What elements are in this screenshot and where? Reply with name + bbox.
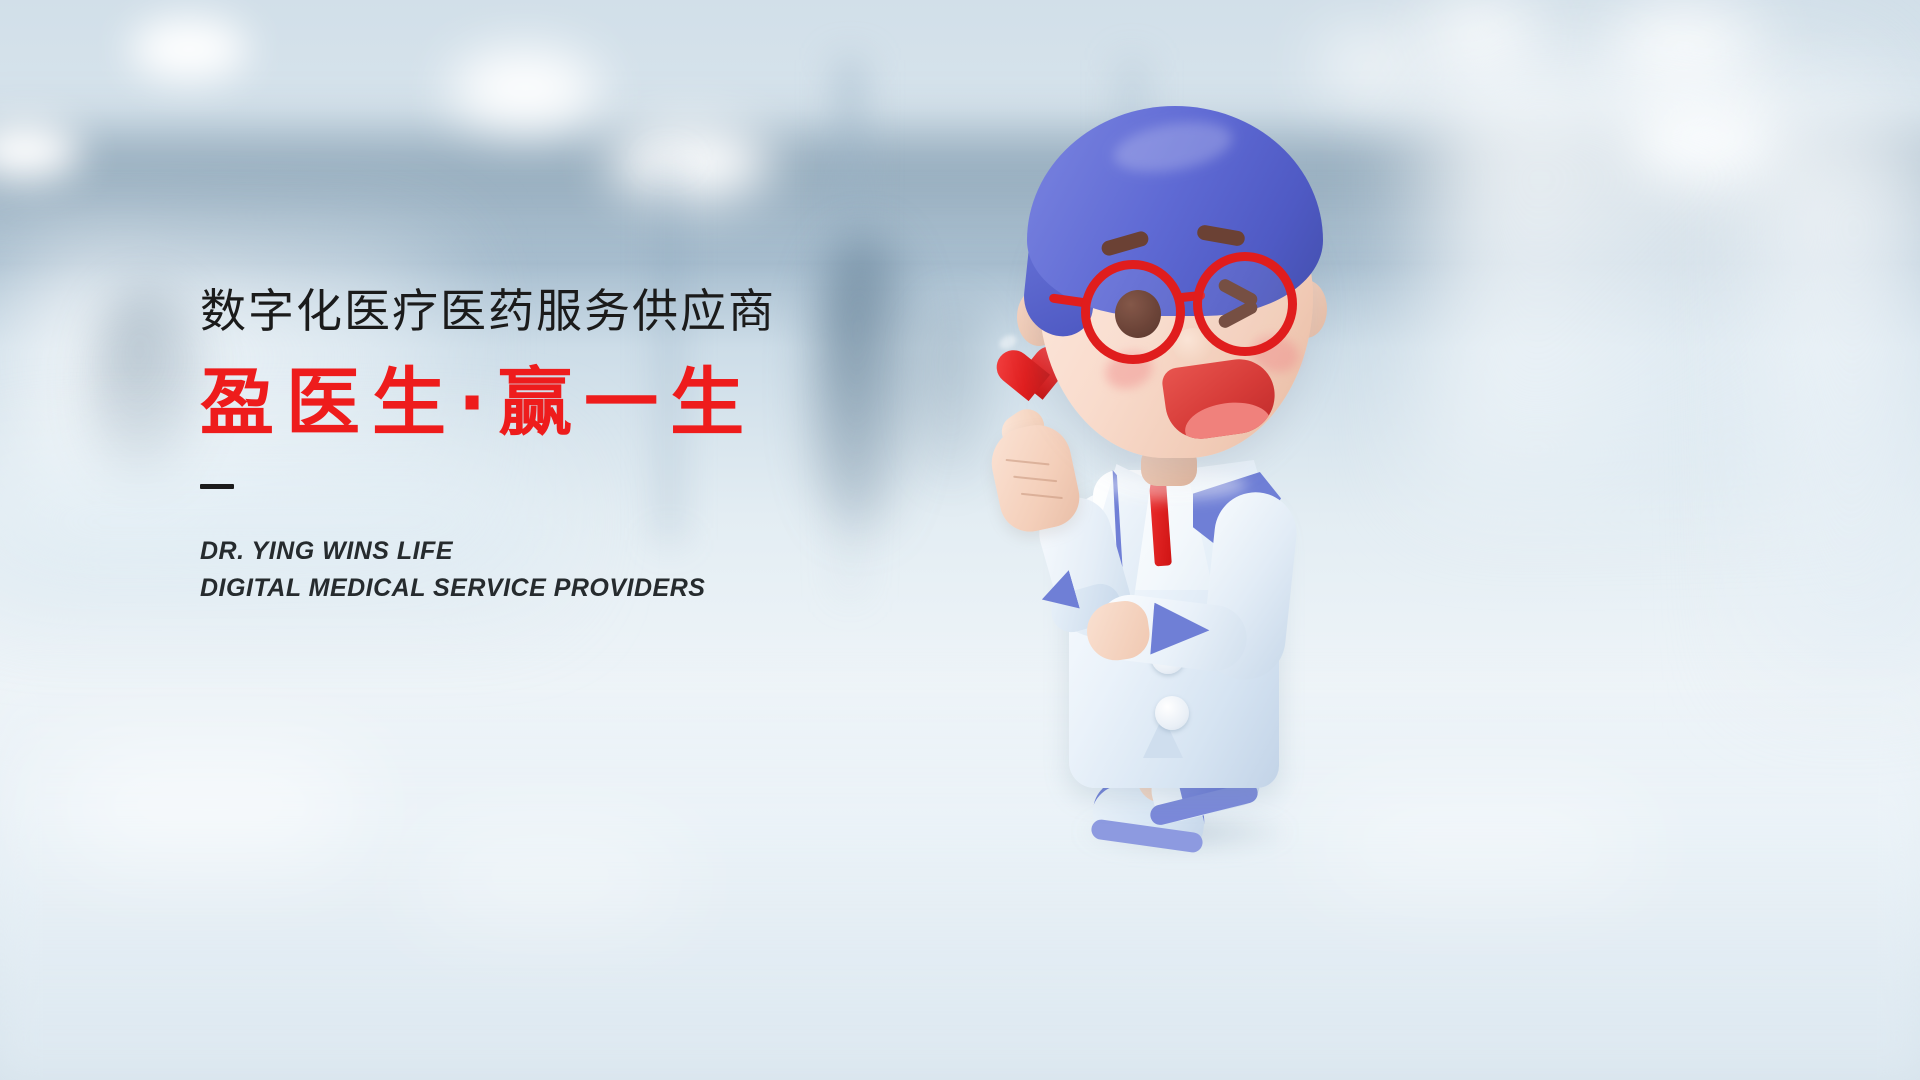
- background-window-far-right: [1760, 120, 1920, 680]
- ceiling-lamp-1: [130, 18, 248, 80]
- hero-english-line-1: DR. YING WINS LIFE: [200, 533, 1020, 570]
- headline-divider: [200, 484, 234, 489]
- hero-banner: 数字化医疗医药服务供应商 盈医生·赢一生 DR. YING WINS LIFE …: [0, 0, 1920, 1080]
- background-person-silhouette-2: [88, 286, 208, 486]
- ceiling-lamp-3: [610, 124, 770, 200]
- finger-crease-1: [1006, 459, 1050, 466]
- floor-reflection-2: [420, 840, 680, 910]
- hero-headline: 盈医生·赢一生: [200, 365, 1020, 443]
- mascot-mouth: [1160, 355, 1279, 444]
- floor-reflection-3: [1320, 800, 1640, 880]
- doctor-mascot: [965, 40, 1365, 860]
- finger-crease-3: [1021, 493, 1063, 499]
- ceiling-lamp-2: [450, 50, 600, 128]
- hero-english-line-2: DIGITAL MEDICAL SERVICE PROVIDERS: [200, 570, 1020, 607]
- glasses-left-lens: [1081, 260, 1185, 364]
- hero-copy: 数字化医疗医药服务供应商 盈医生·赢一生 DR. YING WINS LIFE …: [200, 286, 1020, 606]
- glasses-right-lens: [1193, 252, 1297, 356]
- finger-crease-2: [1013, 476, 1057, 483]
- mascot-coat-button-bottom: [1155, 696, 1189, 730]
- floor-reflection-1: [60, 760, 360, 850]
- hero-subheadline: 数字化医疗医药服务供应商: [200, 286, 1020, 337]
- background-floor: [0, 660, 1920, 1080]
- ceiling-lamp-7: [1420, 4, 1540, 68]
